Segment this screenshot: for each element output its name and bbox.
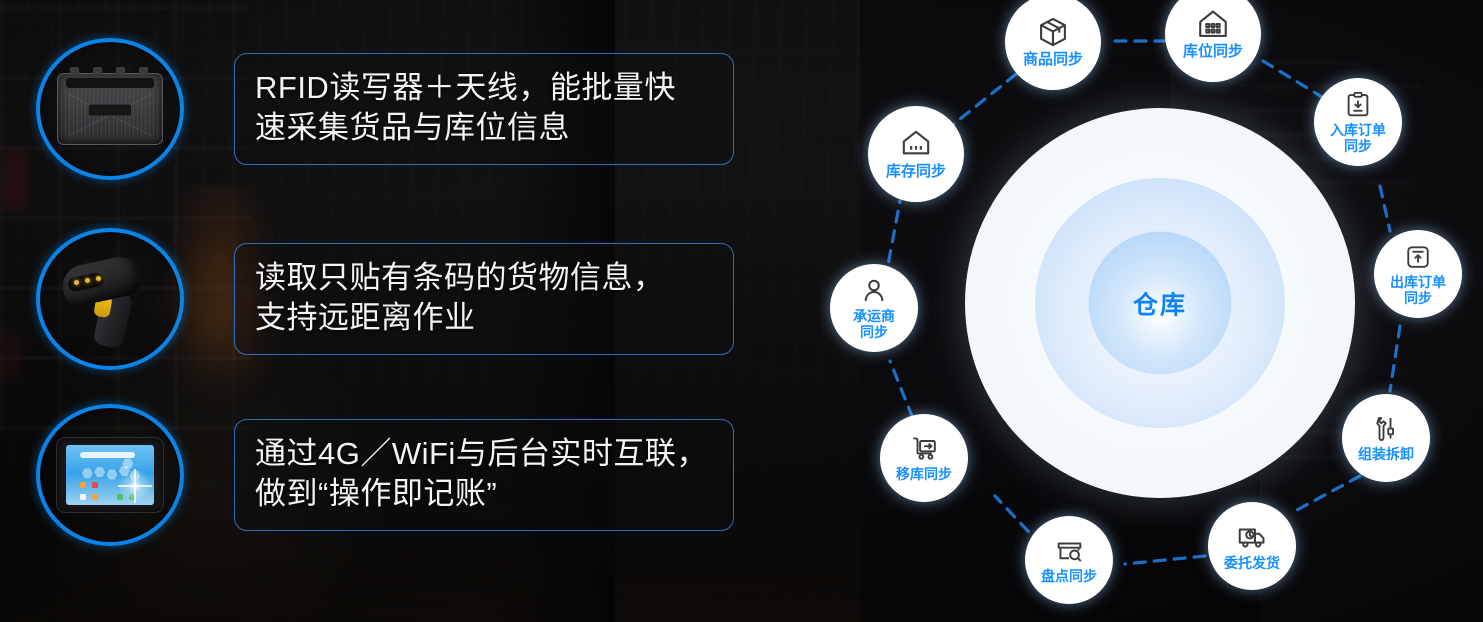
node-label: 承运商 同步 bbox=[853, 309, 895, 340]
feature-callout-1: RFID读写器＋天线，能批量快 速采集货品与库位信息 bbox=[234, 53, 734, 166]
node-label: 库存同步 bbox=[886, 164, 946, 181]
node-inventory-sync[interactable]: 库存同步 bbox=[868, 106, 964, 202]
upload-box-icon bbox=[1403, 242, 1433, 272]
feature-text-2: 读取只贴有条码的货物信息， 支持远距离作业 bbox=[255, 258, 713, 339]
clipboard-down-icon bbox=[1343, 90, 1373, 120]
node-inbound-order-sync[interactable]: 入库订单 同步 bbox=[1314, 78, 1402, 166]
truck-clock-icon bbox=[1236, 521, 1268, 553]
feature-list: RFID读写器＋天线，能批量快 速采集货品与库位信息 读取只贴有条码的货物信息，… bbox=[0, 0, 800, 622]
person-icon bbox=[859, 276, 889, 306]
hub-core: 仓库 bbox=[1089, 232, 1232, 375]
node-label: 商品同步 bbox=[1023, 52, 1083, 69]
rfid-reader-body bbox=[57, 73, 163, 145]
node-transfer-sync[interactable]: 移库同步 bbox=[880, 414, 968, 502]
hub-label: 仓库 bbox=[1133, 285, 1187, 321]
cart-arrow-icon bbox=[909, 433, 940, 464]
node-label: 入库订单 同步 bbox=[1330, 123, 1386, 154]
screenshot-stage: RFID读写器＋天线，能批量快 速采集货品与库位信息 读取只贴有条码的货物信息，… bbox=[0, 0, 1483, 622]
node-stocktaking-sync[interactable]: 盘点同步 bbox=[1025, 516, 1113, 604]
box-icon bbox=[1036, 15, 1070, 49]
node-label: 组装拆卸 bbox=[1358, 447, 1414, 463]
feature-row-barcode-scanner: 读取只贴有条码的货物信息， 支持远距离作业 bbox=[36, 228, 734, 370]
warehouse-sync-diagram: 仓库 商品同步 bbox=[790, 0, 1483, 622]
node-label: 委托发货 bbox=[1224, 556, 1280, 572]
box-search-icon bbox=[1054, 535, 1085, 566]
node-label: 库位同步 bbox=[1183, 44, 1243, 61]
barcode-scanner-body bbox=[58, 251, 162, 347]
node-assembly-disassembly[interactable]: 组装拆卸 bbox=[1342, 394, 1430, 482]
node-label: 出库订单 同步 bbox=[1390, 275, 1446, 306]
rugged-tablet-icon bbox=[36, 404, 184, 546]
wrench-tools-icon bbox=[1371, 414, 1401, 444]
warehouse-dots-icon bbox=[899, 127, 933, 161]
feature-row-rfid-reader: RFID读写器＋天线，能批量快 速采集货品与库位信息 bbox=[36, 38, 734, 180]
feature-text-1: RFID读写器＋天线，能批量快 速采集货品与库位信息 bbox=[255, 68, 713, 149]
feature-callout-2: 读取只贴有条码的货物信息， 支持远距离作业 bbox=[234, 243, 734, 356]
feature-row-rugged-tablet: 通过4G／WiFi与后台实时互联， 做到“操作即记账” bbox=[36, 404, 734, 546]
node-carrier-sync[interactable]: 承运商 同步 bbox=[830, 264, 918, 352]
hub-middle-ring: 仓库 bbox=[1035, 178, 1285, 428]
hub-outer-ring: 仓库 bbox=[965, 108, 1355, 498]
node-label: 移库同步 bbox=[896, 467, 952, 483]
rugged-tablet-body bbox=[56, 437, 164, 513]
warehouse-grid-icon bbox=[1196, 7, 1230, 41]
node-outbound-order-sync[interactable]: 出库订单 同步 bbox=[1374, 230, 1462, 318]
node-label: 盘点同步 bbox=[1041, 569, 1097, 585]
barcode-scanner-icon bbox=[36, 228, 184, 370]
node-delegated-shipment[interactable]: 委托发货 bbox=[1208, 502, 1296, 590]
rfid-reader-icon bbox=[36, 38, 184, 180]
feature-callout-3: 通过4G／WiFi与后台实时互联， 做到“操作即记账” bbox=[234, 419, 734, 532]
feature-text-3: 通过4G／WiFi与后台实时互联， 做到“操作即记账” bbox=[255, 434, 713, 515]
